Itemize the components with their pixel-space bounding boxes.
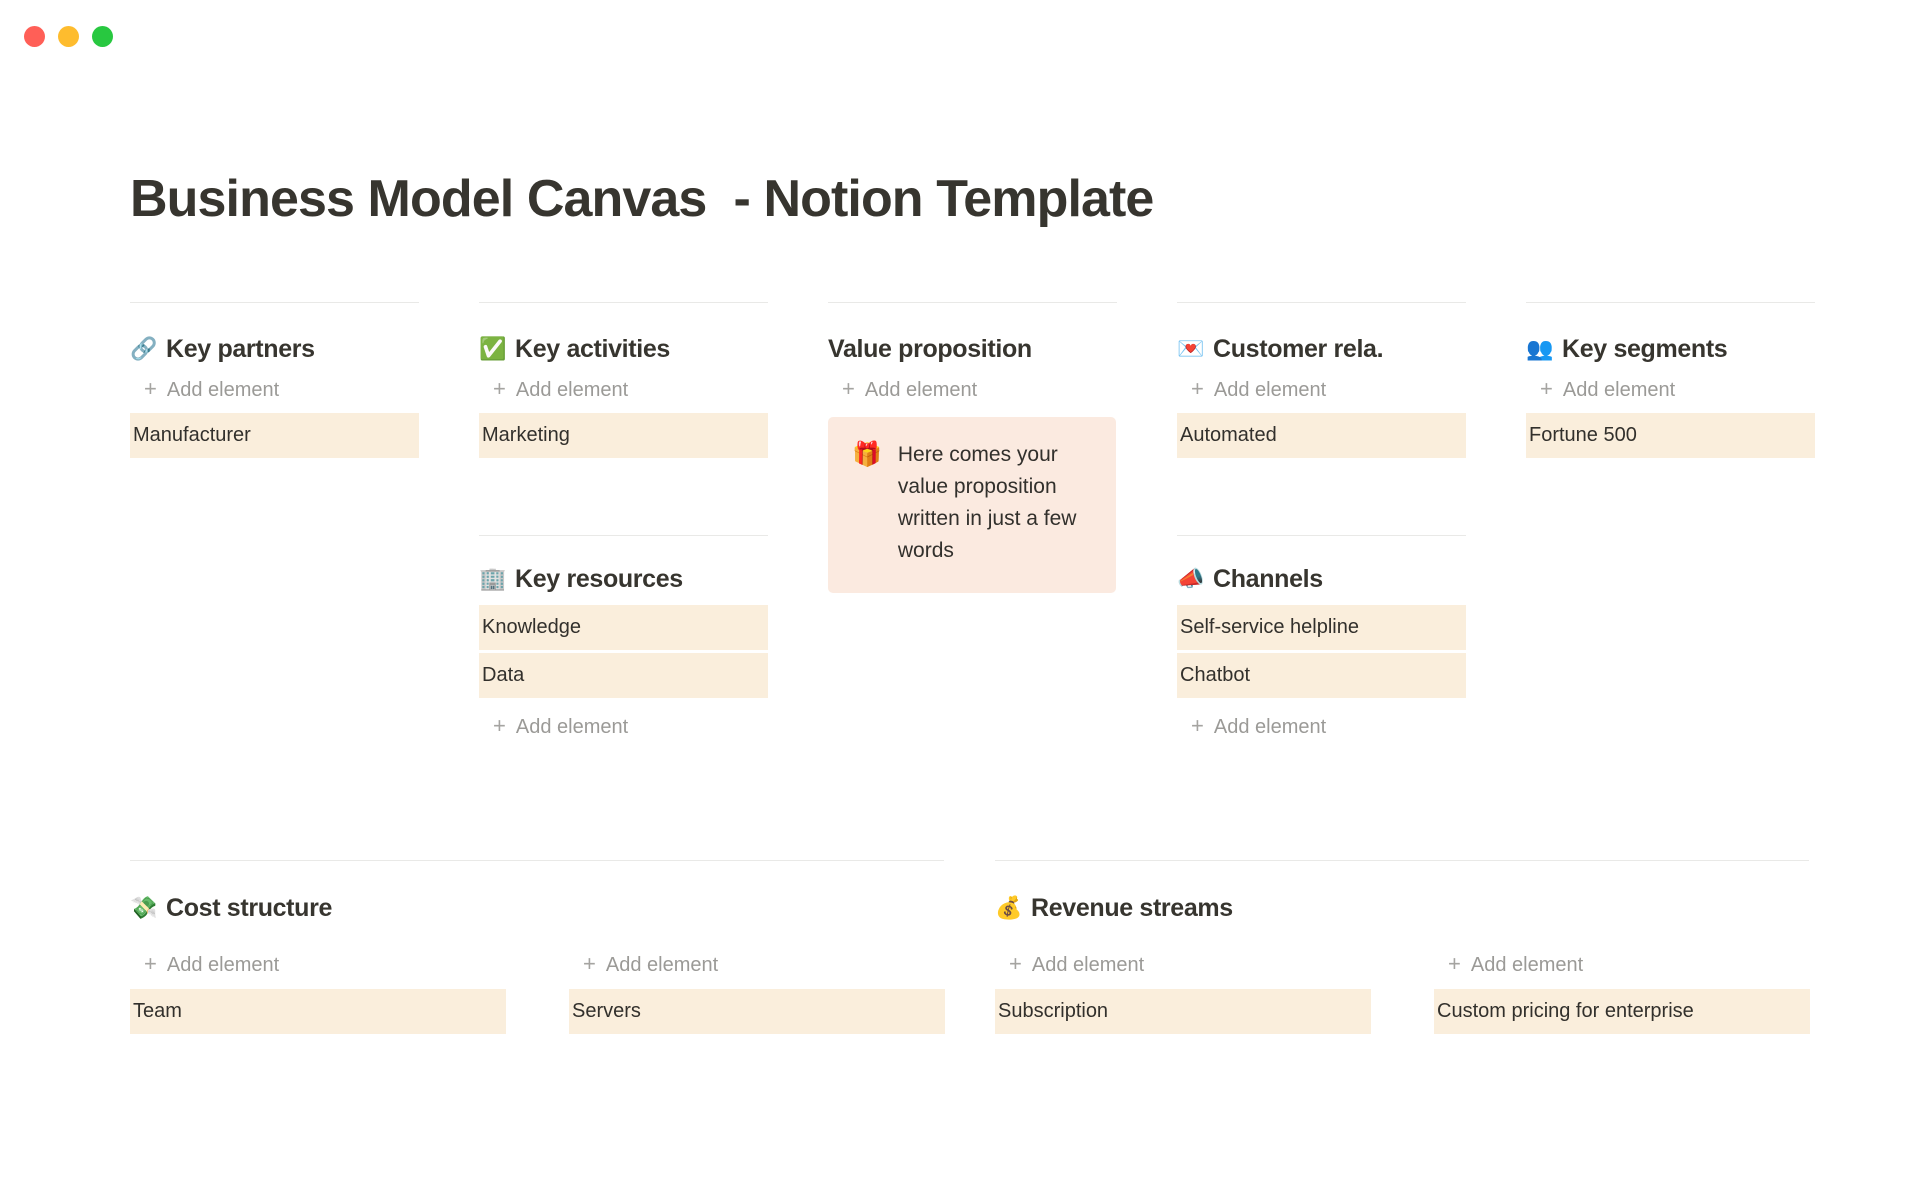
add-element-customer-relationships[interactable]: + Add element [1177, 364, 1466, 413]
page-title[interactable]: Business Model Canvas - Notion Template [130, 170, 1792, 228]
add-element-label: Add element [1032, 955, 1144, 975]
column-revenue-streams: 💰 Revenue streams + Add element Subscrip… [995, 860, 1809, 1034]
megaphone-icon: 📣 [1177, 568, 1204, 590]
add-element-label: Add element [865, 380, 977, 400]
gift-icon: 🎁 [852, 439, 882, 471]
revenue-streams-group-2: + Add element Custom pricing for enterpr… [1434, 954, 1810, 1034]
revenue-streams-groups: + Add element Subscription + Add element… [995, 954, 1809, 1034]
heading-channels: 📣 Channels [1177, 536, 1466, 605]
plus-icon: + [842, 378, 855, 400]
add-element-key-activities[interactable]: + Add element [479, 364, 768, 413]
link-icon: 🔗 [130, 338, 157, 360]
check-mark-button-icon: ✅ [479, 338, 506, 360]
chip-subscription[interactable]: Subscription [995, 989, 1371, 1034]
chip-team[interactable]: Team [130, 989, 506, 1034]
plus-icon: + [1540, 378, 1553, 400]
heading-label: Key activities [515, 334, 670, 364]
canvas-top-row: 🔗 Key partners + Add element Manufacture… [130, 302, 1792, 750]
plus-icon: + [144, 378, 157, 400]
add-element-label: Add element [1214, 380, 1326, 400]
add-element-channels[interactable]: + Add element [1177, 701, 1466, 750]
chip-servers[interactable]: Servers [569, 989, 945, 1034]
heading-key-resources: 🏢 Key resources [479, 536, 768, 605]
add-element-value-proposition[interactable]: + Add element [828, 364, 1117, 413]
spacer [479, 461, 768, 535]
column-key-partners: 🔗 Key partners + Add element Manufacture… [130, 302, 419, 458]
add-element-label: Add element [606, 955, 718, 975]
add-element-label: Add element [516, 380, 628, 400]
chip-self-service-helpline[interactable]: Self-service helpline [1177, 605, 1466, 650]
chip-fortune-500[interactable]: Fortune 500 [1526, 413, 1815, 458]
chip-marketing[interactable]: Marketing [479, 413, 768, 458]
plus-icon: + [583, 953, 596, 975]
heading-label: Key partners [166, 334, 315, 364]
office-building-icon: 🏢 [479, 568, 506, 590]
subblock-channels: 📣 Channels Self-service helpline Chatbot… [1177, 535, 1466, 750]
add-element-key-resources[interactable]: + Add element [479, 701, 768, 750]
heading-label: Key resources [515, 564, 683, 594]
chip-automated[interactable]: Automated [1177, 413, 1466, 458]
busts-in-silhouette-icon: 👥 [1526, 338, 1553, 360]
heading-label: Cost structure [166, 893, 332, 923]
heading-key-partners: 🔗 Key partners [130, 303, 419, 364]
heading-label: Value proposition [828, 334, 1032, 364]
plus-icon: + [1191, 378, 1204, 400]
column-customer-relationships: 💌 Customer rela. + Add element Automated… [1177, 302, 1466, 750]
plus-icon: + [1448, 953, 1461, 975]
add-element-label: Add element [516, 717, 628, 737]
heading-key-segments: 👥 Key segments [1526, 303, 1815, 364]
spacer [1177, 461, 1466, 535]
add-element-label: Add element [1214, 717, 1326, 737]
canvas-bottom-row: 💸 Cost structure + Add element Team + [130, 860, 1792, 1034]
heading-cost-structure: 💸 Cost structure [130, 861, 944, 923]
add-element-key-segments[interactable]: + Add element [1526, 364, 1815, 413]
chip-data[interactable]: Data [479, 653, 768, 698]
add-element-label: Add element [167, 380, 279, 400]
heading-value-proposition: Value proposition [828, 303, 1117, 364]
chip-chatbot[interactable]: Chatbot [1177, 653, 1466, 698]
plus-icon: + [1191, 715, 1204, 737]
heading-key-activities: ✅ Key activities [479, 303, 768, 364]
money-bag-icon: 💰 [995, 897, 1022, 919]
heading-label: Customer rela. [1213, 334, 1383, 364]
love-letter-icon: 💌 [1177, 338, 1204, 360]
plus-icon: + [493, 378, 506, 400]
add-element-label: Add element [1563, 380, 1675, 400]
chip-custom-pricing[interactable]: Custom pricing for enterprise [1434, 989, 1810, 1034]
cost-structure-group-1: + Add element Team [130, 954, 506, 1034]
plus-icon: + [1009, 953, 1022, 975]
column-cost-structure: 💸 Cost structure + Add element Team + [130, 860, 944, 1034]
value-proposition-text: Here comes your value proposition writte… [898, 439, 1092, 567]
subblock-key-resources: 🏢 Key resources Knowledge Data + Add ele… [479, 535, 768, 750]
revenue-streams-group-1: + Add element Subscription [995, 954, 1371, 1034]
column-key-segments: 👥 Key segments + Add element Fortune 500 [1526, 302, 1815, 458]
heading-label: Channels [1213, 564, 1323, 594]
add-element-revenue-streams-1[interactable]: + Add element [995, 954, 1371, 989]
heading-customer-relationships: 💌 Customer rela. [1177, 303, 1466, 364]
money-with-wings-icon: 💸 [130, 897, 157, 919]
add-element-label: Add element [1471, 955, 1583, 975]
page-content: Business Model Canvas - Notion Template … [0, 0, 1920, 1034]
add-element-cost-structure-1[interactable]: + Add element [130, 954, 506, 989]
app-window: Business Model Canvas - Notion Template … [0, 0, 1920, 1200]
add-element-revenue-streams-2[interactable]: + Add element [1434, 954, 1810, 989]
add-element-label: Add element [167, 955, 279, 975]
add-element-key-partners[interactable]: + Add element [130, 364, 419, 413]
card-value-proposition[interactable]: 🎁 Here comes your value proposition writ… [828, 417, 1116, 593]
plus-icon: + [493, 715, 506, 737]
plus-icon: + [144, 953, 157, 975]
column-key-activities: ✅ Key activities + Add element Marketing… [479, 302, 768, 750]
cost-structure-group-2: + Add element Servers [569, 954, 945, 1034]
chip-manufacturer[interactable]: Manufacturer [130, 413, 419, 458]
chip-knowledge[interactable]: Knowledge [479, 605, 768, 650]
heading-label: Key segments [1562, 334, 1727, 364]
heading-label: Revenue streams [1031, 893, 1233, 923]
cost-structure-groups: + Add element Team + Add element Servers [130, 954, 944, 1034]
add-element-cost-structure-2[interactable]: + Add element [569, 954, 945, 989]
heading-revenue-streams: 💰 Revenue streams [995, 861, 1809, 923]
column-value-proposition: Value proposition + Add element 🎁 Here c… [828, 302, 1117, 593]
